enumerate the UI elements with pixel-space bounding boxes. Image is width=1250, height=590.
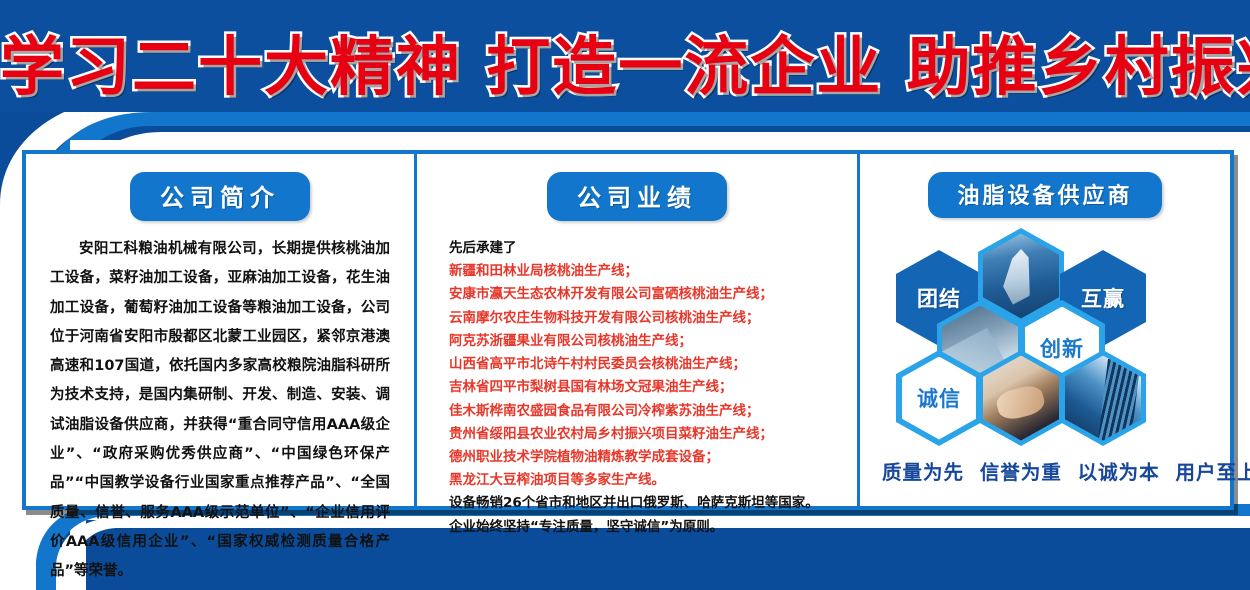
slogan-part: 质量为先 xyxy=(882,461,964,484)
achievement-item: 阿克苏浙疆果业有限公司核桃油生产线； xyxy=(449,330,839,353)
achievement-item: 黑龙江大豆榨油项目等多家生产线。 xyxy=(449,469,839,492)
panel-company-achievements: 公司业绩 先后承建了 新疆和田林业局核桃油生产线； 安康市瀛天生态农林开发有限公… xyxy=(417,154,857,506)
achievements-footer-line: 设备畅销26个省市和地区并出口俄罗斯、哈萨克斯坦等国家。 xyxy=(449,492,839,515)
achievements-list: 先后承建了 新疆和田林业局核桃油生产线； 安康市瀛天生态农林开发有限公司富硒核桃… xyxy=(435,237,839,539)
achievement-item: 佳木斯桦南农盛园食品有限公司冷榨紫苏油生产线； xyxy=(449,400,839,423)
hexagon-label: 创新 xyxy=(1040,333,1084,363)
hexagon-label: 互赢 xyxy=(1081,283,1125,313)
slogan-part: 以诚为本 xyxy=(1078,461,1160,484)
hexagon-label: 诚信 xyxy=(917,383,961,413)
achievement-item: 山西省高平市北诗午村村民委员会核桃油生产线； xyxy=(449,353,839,376)
achievement-item: 安康市瀛天生态农林开发有限公司富硒核桃油生产线； xyxy=(449,283,839,306)
achievement-item: 云南摩尔农庄生物科技开发有限公司核桃油生产线； xyxy=(449,307,839,330)
hexagon-diagram: 团结 互赢 创新 诚信 xyxy=(878,228,1218,438)
hexagon-label: 团结 xyxy=(917,283,961,313)
achievement-item: 新疆和田林业局核桃油生产线； xyxy=(449,260,839,283)
page-title: 学习二十大精神 打造一流企业 助推乡村振兴 xyxy=(0,16,1250,108)
content-frame: 公司简介 安阳工科粮油机械有限公司，长期提供核桃油加工设备，菜籽油加工设备，亚麻… xyxy=(22,150,1234,510)
slogan-part: 用户至上 xyxy=(1175,461,1250,484)
achievement-item: 贵州省绥阳县农业农村局乡村振兴项目菜籽油生产线； xyxy=(449,423,839,446)
achievement-item: 德州职业技术学院植物油精炼教学成套设备； xyxy=(449,446,839,469)
company-profile-title: 公司简介 xyxy=(130,172,310,221)
achievements-footer-line: 企业始终坚持“专注质量，坚守诚信”为原则。 xyxy=(449,516,839,539)
poster-root: 学习二十大精神 打造一流企业 助推乡村振兴 公司简介 安阳工科粮油机械有限公司，… xyxy=(0,0,1250,590)
panel-company-profile: 公司简介 安阳工科粮油机械有限公司，长期提供核桃油加工设备，菜籽油加工设备，亚麻… xyxy=(26,154,414,506)
panel-supplier: 油脂设备供应商 团结 互赢 创新 xyxy=(860,154,1230,506)
company-achievements-title: 公司业绩 xyxy=(547,172,727,221)
supplier-slogan: 质量为先 信誉为重 以诚为本 用户至上 xyxy=(878,456,1212,485)
slogan-part: 信誉为重 xyxy=(980,461,1062,484)
title-band: 学习二十大精神 打造一流企业 助推乡村振兴 xyxy=(0,0,1250,112)
company-profile-body: 安阳工科粮油机械有限公司，长期提供核桃油加工设备，菜籽油加工设备，亚麻油加工设备… xyxy=(44,235,396,586)
achievements-intro: 先后承建了 xyxy=(449,237,839,260)
achievement-item: 吉林省四平市梨树县国有林场文冠果油生产线； xyxy=(449,376,839,399)
supplier-title: 油脂设备供应商 xyxy=(928,172,1162,218)
